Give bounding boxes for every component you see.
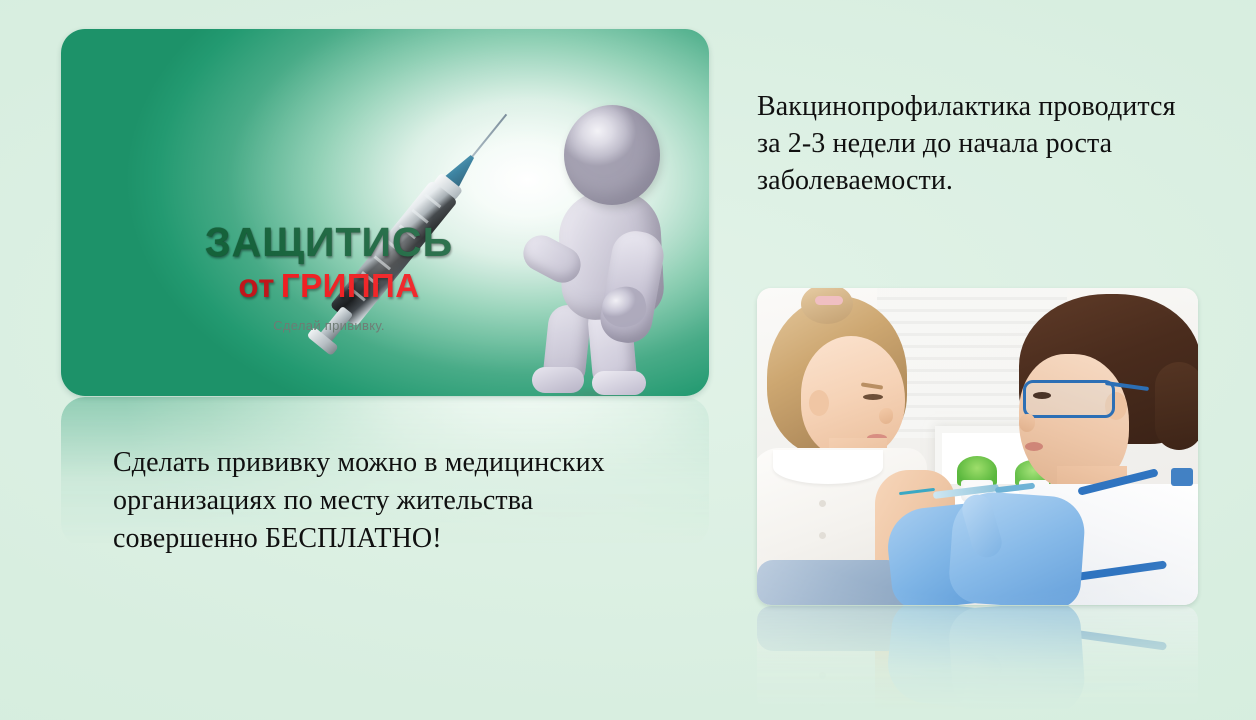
child-collar — [773, 450, 883, 484]
poster-headline-bottom: отГРИППА — [169, 269, 489, 302]
photo-scene — [757, 288, 1198, 605]
child-eye — [863, 394, 883, 400]
poster-text-block: ЗАЩИТИСЬ отГРИППА Сделай прививку. — [169, 222, 489, 333]
nurse-nose — [1019, 414, 1035, 432]
mannequin-foot-left — [532, 367, 584, 393]
mannequin-head — [564, 105, 660, 205]
poster-headline-top: ЗАЩИТИСЬ — [169, 222, 489, 263]
poster-image[interactable]: ЗАЩИТИСЬ отГРИППА Сделай прививку. — [61, 29, 709, 396]
nurse-glasses-icon — [1023, 380, 1115, 418]
slide-canvas: ЗАЩИТИСЬ отГРИППА Сделай прививку. Вакци… — [0, 0, 1256, 720]
child-jeans — [757, 560, 907, 605]
nurse-coat-badge — [1171, 468, 1193, 486]
photo-container[interactable] — [757, 288, 1198, 605]
poster-subtitle: Сделай прививку. — [169, 318, 489, 333]
child-hair-tie — [815, 296, 843, 305]
nurse-lips — [1025, 442, 1043, 451]
photo-reflection — [757, 606, 1198, 711]
vaccination-photo[interactable] — [757, 288, 1198, 605]
child-shirt-button — [819, 532, 826, 539]
mannequin-figure-icon — [486, 91, 706, 391]
text-block-free-vaccination: Сделать прививку можно в медицинских орг… — [113, 444, 673, 557]
child-nose — [879, 408, 893, 424]
poster-headline-prefix: от — [238, 267, 275, 304]
poster-container[interactable]: ЗАЩИТИСЬ отГРИППА Сделай прививку. — [61, 29, 709, 396]
mannequin-foot-right — [592, 371, 646, 395]
text-block-vaccination-timing: Вакцинопрофилактика проводится за 2-3 не… — [757, 88, 1197, 200]
photo-reflection-scene — [757, 606, 1198, 711]
child-shirt-button — [819, 500, 826, 507]
child-ear — [809, 390, 829, 416]
nurse-eye — [1033, 392, 1051, 399]
poster-headline-main: ГРИППА — [275, 267, 420, 304]
nurse-braid — [1155, 362, 1198, 450]
